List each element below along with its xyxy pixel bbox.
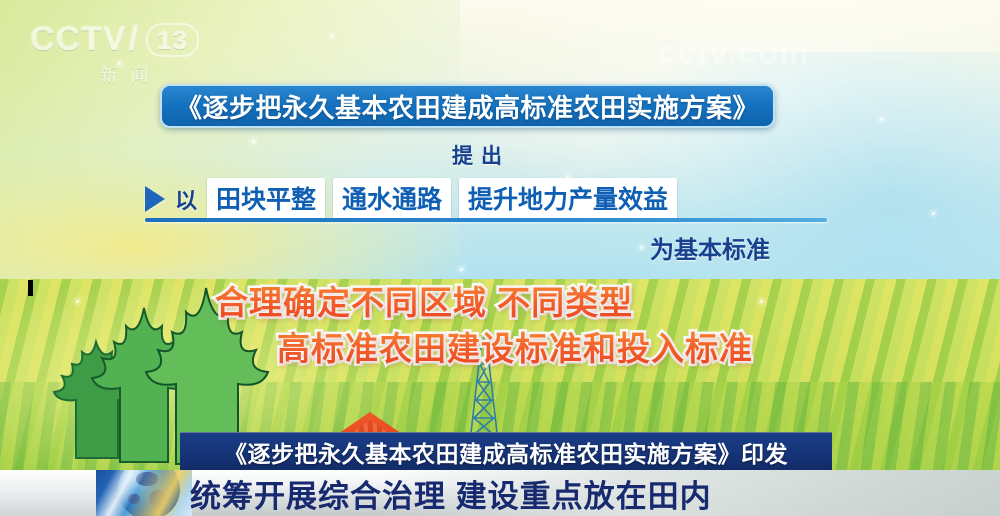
cctv-channel-number: 13: [146, 23, 199, 57]
lower-third-subline: 统筹开展综合治理 建设重点放在田内: [190, 471, 712, 516]
cctv-logo-text: CCTV: [30, 20, 127, 59]
policy-title-text: 《逐步把永久基本农田建成高标准农田实施方案》: [176, 88, 759, 125]
cctv-watermark: cctv.com: [658, 34, 810, 71]
globe-light-streak: [96, 470, 192, 516]
cctv-logo-slash: /: [129, 20, 139, 59]
standards-row: 以 田块平整 通水通路 提升地力产量效益: [145, 180, 835, 218]
standards-suffix-text: 为基本标准: [650, 230, 770, 265]
standard-chip: 田块平整: [207, 178, 325, 220]
standards-underline: [145, 218, 827, 222]
cctv13-logo: CCTV / 13 新闻: [30, 20, 220, 82]
broadcast-screen: CCTV / 13 新闻 cctv.com 《逐步把永久基本农田建成高标准农田实…: [0, 0, 1000, 516]
lower-third-headline-bar: 《逐步把永久基本农田建成高标准农田实施方案》印发: [180, 432, 832, 470]
lower-third-subline-container: 统筹开展综合治理 建设重点放在田内: [190, 470, 712, 516]
highlight-line-1: 合理确定不同区域 不同类型: [215, 276, 633, 324]
standard-chip: 提升地力产量效益: [459, 178, 677, 220]
play-arrow-icon: [145, 186, 165, 212]
policy-title-banner: 《逐步把永久基本农田建成高标准农田实施方案》: [160, 84, 775, 128]
standard-chip: 通水通路: [333, 178, 451, 220]
globe-logo: [96, 470, 192, 516]
proposes-label: 提出: [452, 140, 510, 170]
cctv-channel-name: 新闻: [30, 61, 220, 86]
prefix-particle: 以: [175, 183, 197, 215]
lower-third-left-edge: [0, 470, 96, 516]
lower-third-headline: 《逐步把永久基本农田建成高标准农田实施方案》印发: [224, 435, 788, 469]
cctv-logo-mark: CCTV / 13: [30, 20, 220, 59]
highlight-line-2: 高标准农田建设标准和投入标准: [277, 322, 753, 370]
